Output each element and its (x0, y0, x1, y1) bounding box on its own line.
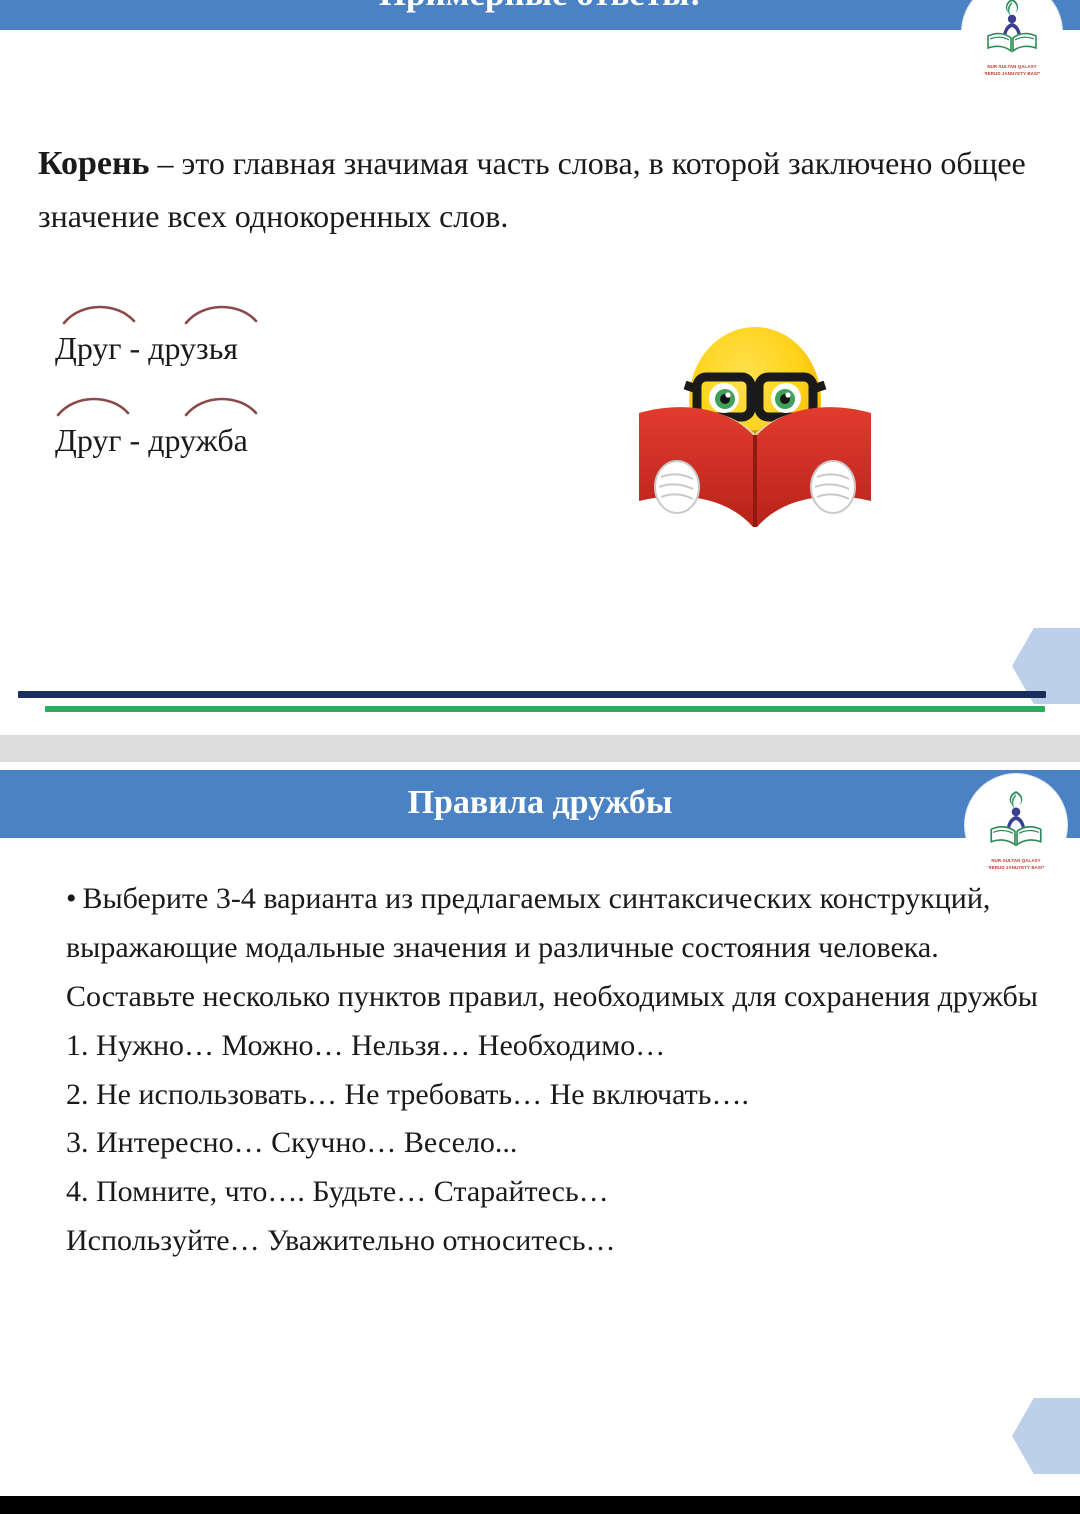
definition-term: Корень (38, 145, 150, 182)
navy-divider-line (18, 691, 1046, 698)
task-instruction: •Выберите 3-4 варианта из предлагаемых с… (66, 875, 1056, 1022)
task-instruction-text: Выберите 3-4 варианта из предлагаемых си… (66, 882, 1038, 1013)
root-definition: Корень – это главная значимая часть слов… (38, 136, 1043, 243)
root-arc-mark (61, 300, 137, 328)
slide-1: Примерные ответы: NUR-SULTAN QALASY BILI… (0, 0, 1080, 735)
root-arc-mark (55, 392, 131, 420)
book-and-sprout-icon (981, 0, 1043, 56)
slide-separator-top-edge (0, 733, 1080, 735)
definition-rest: – это главная значимая часть слова, в ко… (38, 145, 1026, 234)
example-word: Друг - друзья (55, 332, 238, 364)
example-row: Друг - дружба (55, 392, 485, 484)
rules-list: 1. Нужно… Можно… Нельзя… Необходимо… 2. … (66, 1022, 1056, 1266)
slide-separator-bottom-edge (0, 762, 1080, 770)
list-item: 3. Интересно… Скучно… Весело... (66, 1119, 1056, 1168)
slide-2-banner: Правила дружбы (0, 770, 1080, 838)
example-row: Друг - друзья (55, 300, 485, 392)
list-item: 2. Не использовать… Не требовать… Не вкл… (66, 1071, 1056, 1120)
slide-2-banner-title: Правила дружбы (0, 784, 1080, 822)
list-item: 4. Помните, что…. Будьте… Старайтесь… (66, 1168, 1056, 1217)
presentation-page: Примерные ответы: NUR-SULTAN QALASY BILI… (0, 0, 1080, 1514)
organization-logo-top: NUR-SULTAN QALASY BILIM BERUD JANUYETY B… (962, 0, 1062, 82)
organization-logo-bottom: NUR-SULTAN QALASY BILIM BERUD JANUYETY B… (965, 774, 1067, 876)
logo-caption: NUR-SULTAN QALASY BILIM BERUD JANUYETY B… (965, 858, 1067, 871)
bullet-icon: • (66, 882, 77, 915)
green-divider-line (45, 706, 1045, 712)
list-item: 1. Нужно… Можно… Нельзя… Необходимо… (66, 1022, 1056, 1071)
root-arc-mark (183, 300, 259, 328)
root-arc-mark (183, 392, 259, 420)
slide-1-banner-title: Примерные ответы: (0, 0, 1080, 14)
logo-caption: NUR-SULTAN QALASY BILIM BERUD JANUYETY B… (962, 64, 1062, 77)
slide-2: Правила дружбы NUR-SULTAN QALASY BILIM B… (0, 770, 1080, 1496)
bottom-black-bar (0, 1496, 1080, 1514)
book-and-sprout-icon (984, 788, 1048, 850)
slide-1-banner: Примерные ответы: (0, 0, 1080, 30)
example-word: Друг - дружба (55, 424, 248, 456)
slide-separator (0, 735, 1080, 762)
friendship-rules-content: •Выберите 3-4 варианта из предлагаемых с… (66, 875, 1056, 1266)
word-examples: Друг - друзья Друг - дружба (55, 300, 485, 484)
list-item: Использyйте… Уважительно относитесь… (66, 1217, 1056, 1266)
smiley-reading-book-illustration (625, 305, 885, 545)
